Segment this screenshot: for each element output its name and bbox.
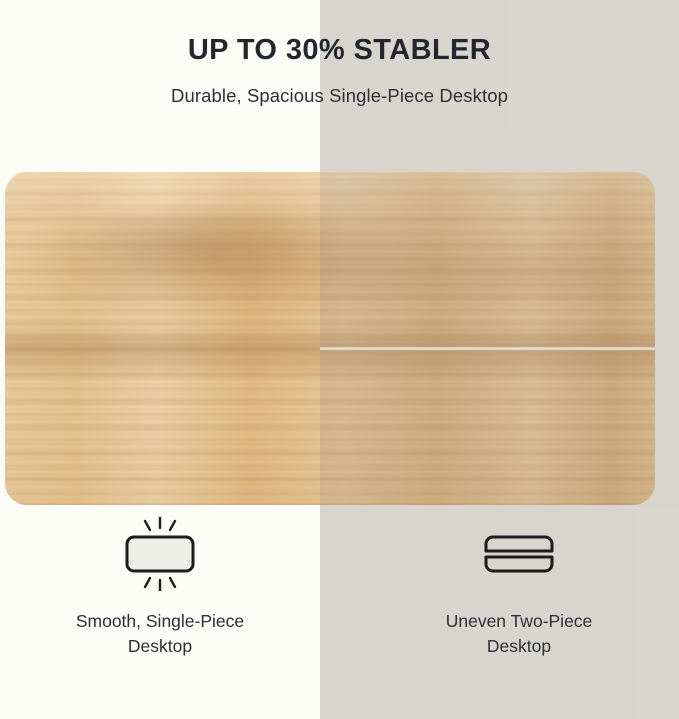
single-piece-desktop-icon [0,515,320,593]
comparison-infographic: UP TO 30% STABLER Durable, Spacious Sing… [0,0,679,719]
wood-grain-texture [5,172,655,505]
desktop-product-image [5,172,655,505]
caption-single-piece: Smooth, Single-Piece Desktop [0,609,320,660]
comparison-column-left: Smooth, Single-Piece Desktop [0,515,320,660]
two-piece-desktop-icon [359,515,679,593]
desktop-seam-line [320,346,655,351]
caption-single-piece-line1: Smooth, Single-Piece [76,611,244,631]
caption-two-piece-line1: Uneven Two-Piece [446,611,593,631]
caption-single-piece-line2: Desktop [128,636,192,656]
comparison-column-right: Uneven Two-Piece Desktop [359,515,679,660]
caption-two-piece: Uneven Two-Piece Desktop [359,609,679,660]
caption-two-piece-line2: Desktop [487,636,551,656]
page-title: UP TO 30% STABLER [0,34,679,67]
page-subtitle: Durable, Spacious Single-Piece Desktop [0,85,679,107]
